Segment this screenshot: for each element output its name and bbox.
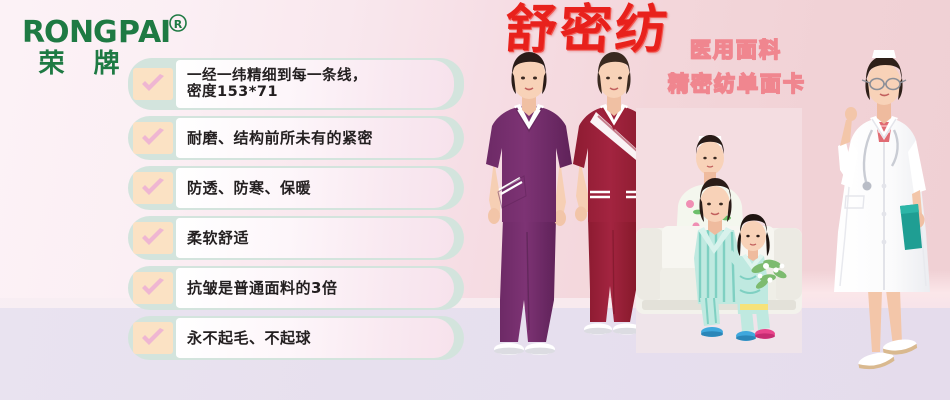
svg-text:A: A: [138, 15, 162, 50]
headline-sub-1: 医用面料: [690, 34, 782, 64]
svg-text:R: R: [22, 15, 45, 50]
feature-text: 永不起毛、不起球: [187, 330, 311, 347]
feature-item-5: 抗皱是普通面料的3倍: [128, 266, 458, 310]
feature-text: 耐磨、结构前所未有的紧密: [187, 130, 373, 147]
feature-text: 防透、防寒、保暖: [187, 180, 311, 197]
nurse-purple: [486, 52, 572, 355]
feature-text: 柔软舒适: [187, 230, 249, 247]
check-icon: [133, 222, 173, 254]
svg-text:N: N: [69, 15, 94, 50]
feature-text: 一经一纬精细到每一条线， 密度153*71: [187, 68, 367, 100]
photo-mother-sandals: [701, 327, 723, 337]
headline-main: 舒密纺: [503, 2, 672, 58]
check-icon: [133, 122, 173, 154]
logo-trademark-icon: R: [170, 15, 186, 31]
feature-item-4: 柔软舒适: [128, 216, 458, 260]
check-icon: [133, 322, 173, 354]
feature-item-1: 一经一纬精细到每一条线， 密度153*71: [128, 58, 458, 110]
feature-item-2: 耐磨、结构前所未有的紧密: [128, 116, 458, 160]
logo-latin-wordmark: R O N G P A I: [22, 15, 171, 50]
logo-chinese-name: 荣 牌: [38, 48, 129, 76]
feature-item-3: 防透、防寒、保暖: [128, 166, 458, 210]
check-icon: [133, 272, 173, 304]
family-photo-inset: [636, 108, 802, 353]
feature-text: 抗皱是普通面料的3倍: [187, 280, 337, 297]
doctor-white-coat: [834, 50, 930, 372]
feature-list: 一经一纬精细到每一条线， 密度153*71 耐磨、结构前所未有的紧密 防透、防寒…: [128, 58, 458, 366]
svg-text:G: G: [93, 15, 117, 50]
headline-sub-2: 精密纺单面卡: [668, 68, 806, 98]
svg-text:P: P: [118, 15, 140, 50]
check-icon: [133, 68, 173, 100]
promo-banner: R O N G P A I R 荣 牌 一经一纬精细到每一条线， 密度153*7…: [0, 0, 950, 400]
svg-text:R: R: [174, 18, 183, 31]
check-icon: [133, 172, 173, 204]
svg-text:O: O: [44, 15, 69, 50]
feature-item-6: 永不起毛、不起球: [128, 316, 458, 360]
svg-text:I: I: [160, 15, 171, 50]
